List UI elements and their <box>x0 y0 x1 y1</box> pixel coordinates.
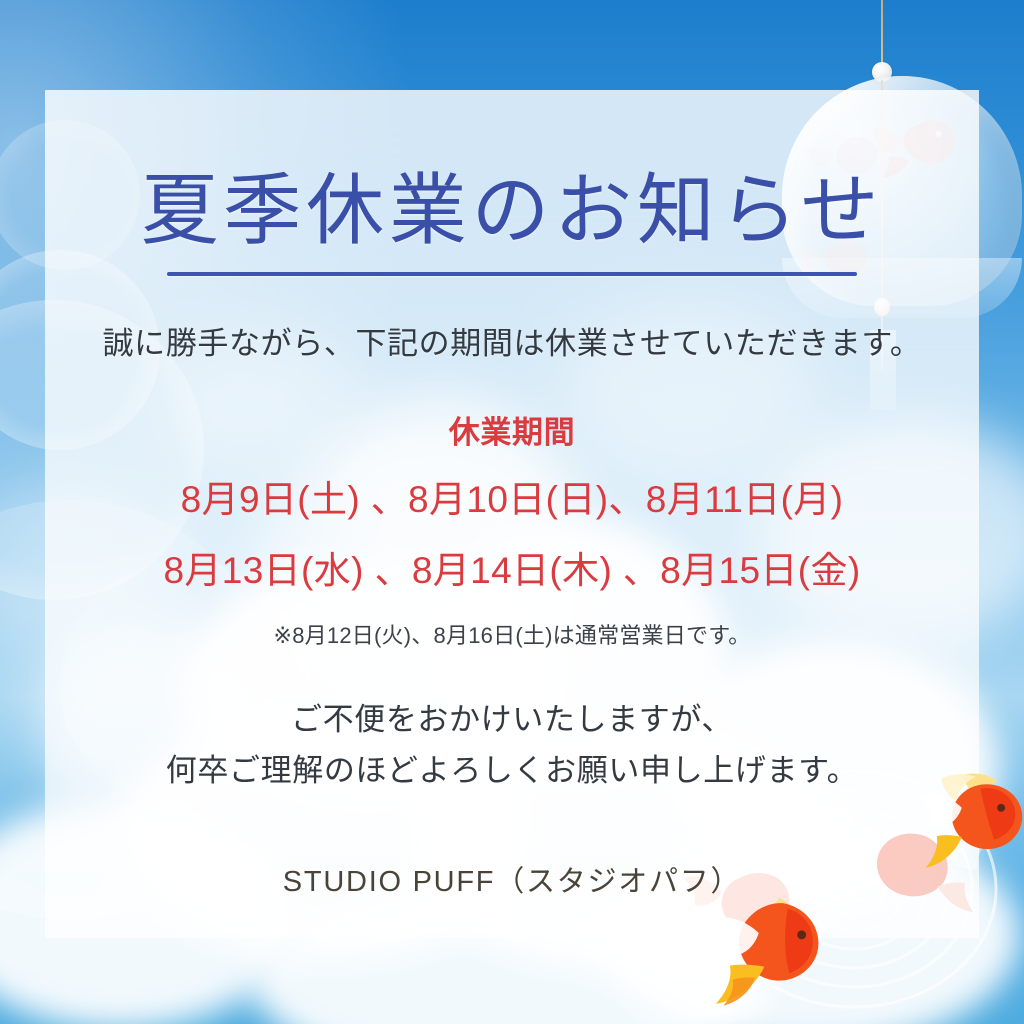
period-line-2: 8月13日(水) 、8月14日(木) 、8月15日(金) <box>163 540 860 594</box>
studio-signature: STUDIO PUFF（スタジオパフ） <box>283 858 741 900</box>
closing-line-1: ご不便をおかけいたしますが、 <box>291 702 733 737</box>
furin-hanging-string <box>881 0 883 70</box>
closing-line-2: 何卒ご理解のほどよろしくお願い申し上げます。 <box>166 753 859 788</box>
title-underline-rule <box>167 272 857 276</box>
period-heading: 休業期間 <box>449 407 575 452</box>
closing-message: ご不便をおかけいたしますが、 何卒ご理解のほどよろしくお願い申し上げます。 <box>166 694 859 796</box>
poster-canvas: 夏季休業のお知らせ 誠に勝手ながら、下記の期間は休業させていただきます。 休業期… <box>0 0 1024 1024</box>
notice-content: 夏季休業のお知らせ 誠に勝手ながら、下記の期間は休業させていただきます。 休業期… <box>45 90 979 938</box>
period-line-1: 8月9日(土) 、8月10日(日)、8月11日(月) <box>181 469 844 523</box>
open-days-note: ※8月12日(火)、8月16日(土)は通常営業日です。 <box>274 618 751 650</box>
page-title: 夏季休業のお知らせ <box>141 168 884 254</box>
lead-paragraph: 誠に勝手ながら、下記の期間は休業させていただきます。 <box>102 318 921 363</box>
